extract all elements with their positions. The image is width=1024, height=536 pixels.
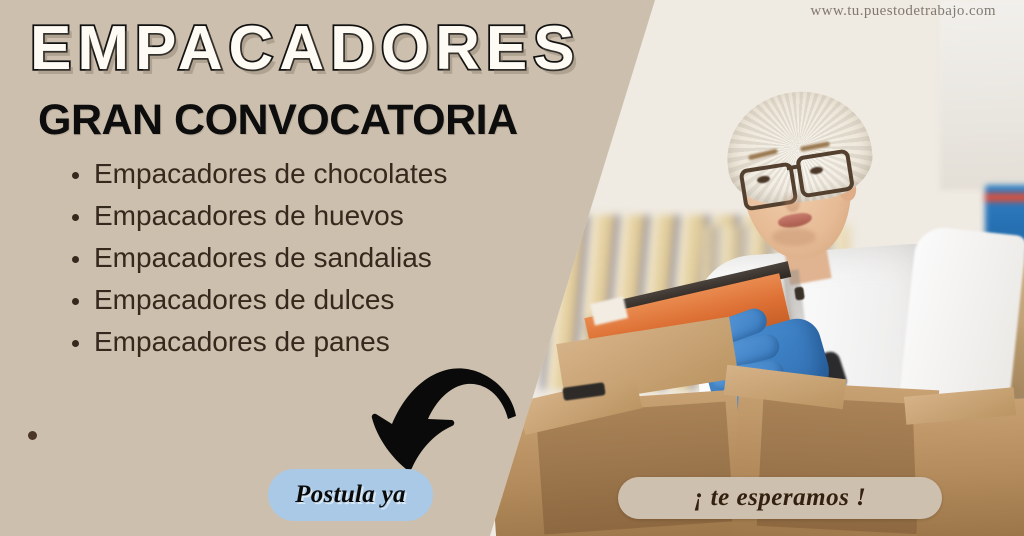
job-list: Empacadores de chocolates Empacadores de… bbox=[52, 160, 447, 370]
poster-canvas: www.tu.puestodetrabajo.com EMPACADORES G… bbox=[0, 0, 1024, 536]
chin-shadow bbox=[772, 228, 816, 246]
page-subtitle: GRAN CONVOCATORIA bbox=[38, 96, 518, 145]
cta-label: Postula ya bbox=[295, 481, 406, 509]
list-item: Empacadores de huevos bbox=[72, 202, 447, 244]
promo-label: ¡ te esperamos ! bbox=[694, 484, 867, 512]
ceiling bbox=[940, 0, 1024, 190]
page-title: EMPACADORES bbox=[30, 13, 581, 84]
te-esperamos-banner: ¡ te esperamos ! bbox=[618, 477, 942, 519]
list-item: Empacadores de dulces bbox=[72, 286, 447, 328]
list-item: Empacadores de chocolates bbox=[72, 160, 447, 202]
coat-button bbox=[794, 286, 805, 300]
postula-ya-button[interactable]: Postula ya bbox=[268, 469, 433, 521]
watermark-url: www.tu.puestodetrabajo.com bbox=[810, 3, 996, 20]
lens-right bbox=[795, 148, 855, 198]
curved-down-arrow-icon bbox=[368, 358, 518, 478]
stray-bullet-dot bbox=[28, 431, 37, 440]
list-item: Empacadores de sandalias bbox=[72, 244, 447, 286]
